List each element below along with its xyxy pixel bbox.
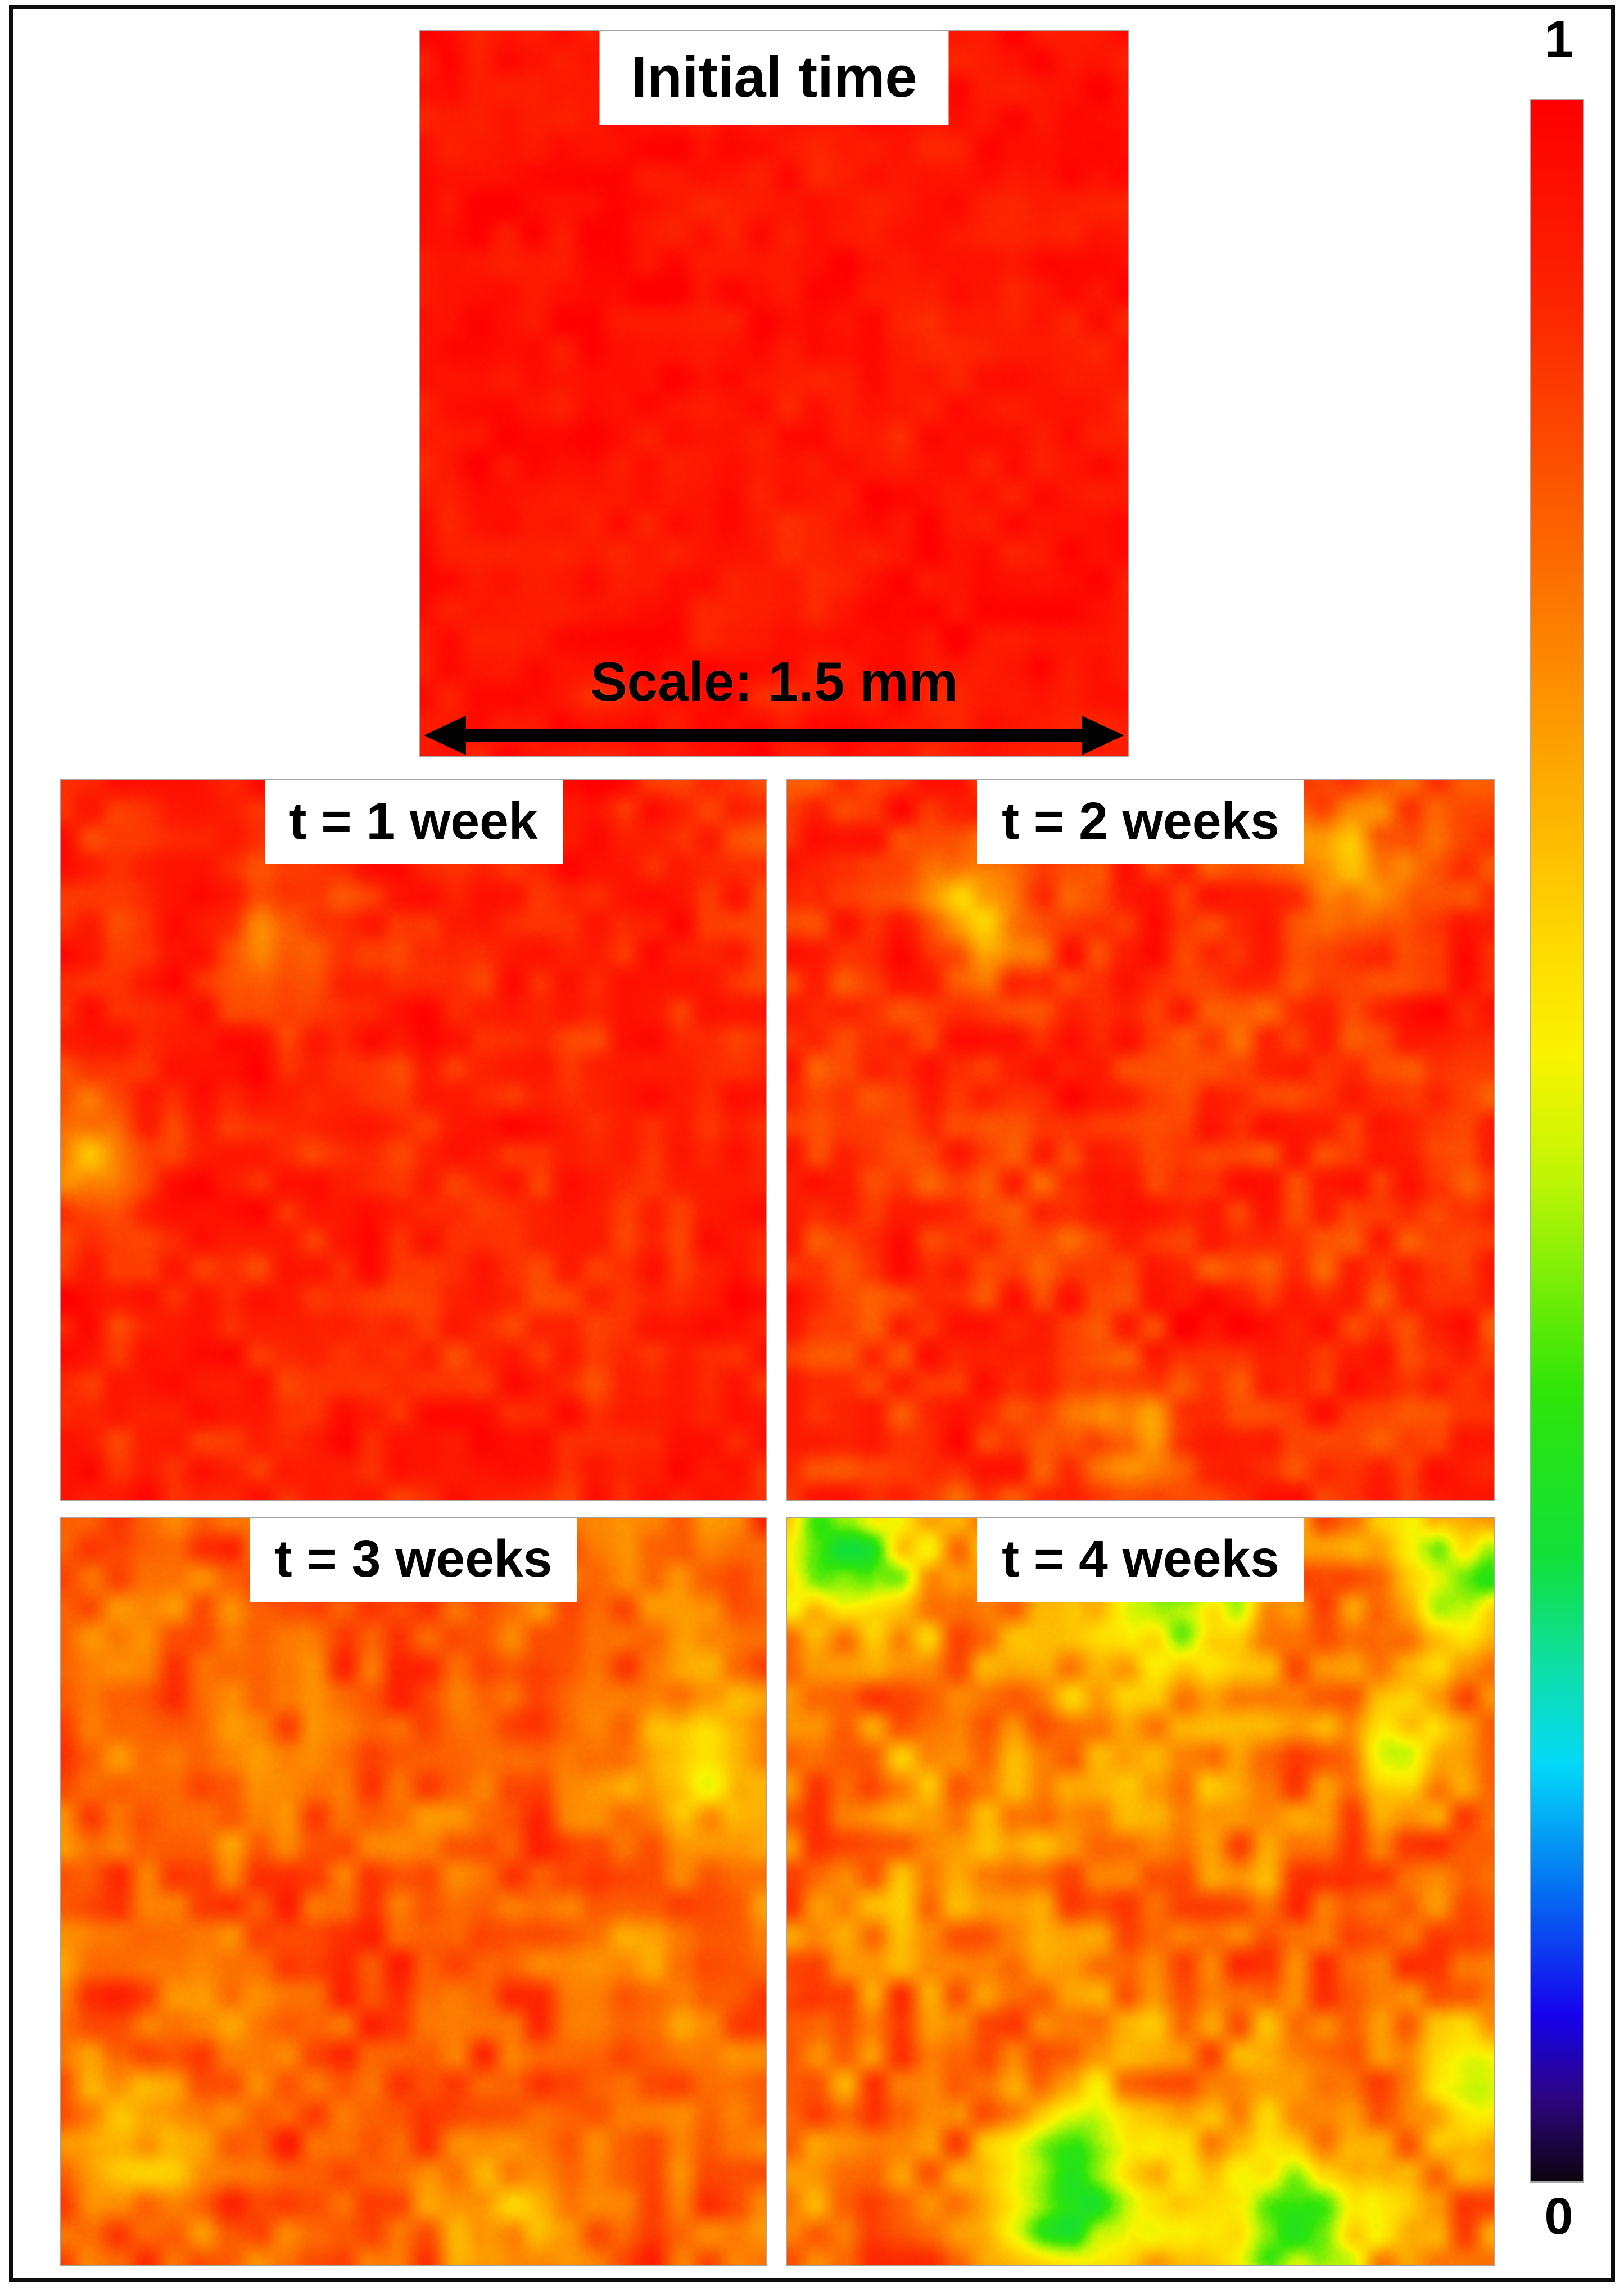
heatmap-panel-week4[interactable]: t = 4 weeks: [787, 1518, 1494, 2265]
heatmap-canvas-week4: [787, 1518, 1494, 2265]
colorbar-min-label: 0: [1528, 2190, 1590, 2242]
colorbar-gradient: [1531, 100, 1583, 2181]
heatmap-canvas-week3: [61, 1518, 766, 2265]
scale-bar-text: Scale: 1.5 mm: [590, 654, 958, 709]
panel-label-week3: t = 3 weeks: [250, 1518, 577, 1602]
heatmap-panel-week2[interactable]: t = 2 weeks: [787, 780, 1494, 1500]
heatmap-panel-week1[interactable]: t = 1 week: [61, 780, 766, 1500]
heatmap-panel-initial[interactable]: Initial time Scale: 1.5 mm: [420, 31, 1128, 756]
heatmap-canvas-week1: [61, 780, 766, 1500]
heatmap-panel-week3[interactable]: t = 3 weeks: [61, 1518, 766, 2265]
panel-label-week2: t = 2 weeks: [977, 780, 1304, 864]
colorbar[interactable]: 1 0: [1528, 11, 1590, 2260]
panel-label-week4: t = 4 weeks: [977, 1518, 1304, 1602]
figure-root: Initial time Scale: 1.5 mm t = 1 week t …: [0, 0, 1624, 2290]
panel-label-week1: t = 1 week: [264, 780, 562, 864]
colorbar-canvas: [1531, 100, 1583, 2181]
heatmap-canvas-week2: [787, 780, 1494, 1500]
heatmap-canvas-initial: [420, 31, 1128, 756]
colorbar-max-label: 1: [1528, 13, 1590, 65]
panel-label-initial: Initial time: [599, 31, 948, 125]
scale-bar-arrow-icon: [424, 716, 1124, 755]
scale-bar: Scale: 1.5 mm: [420, 654, 1128, 755]
